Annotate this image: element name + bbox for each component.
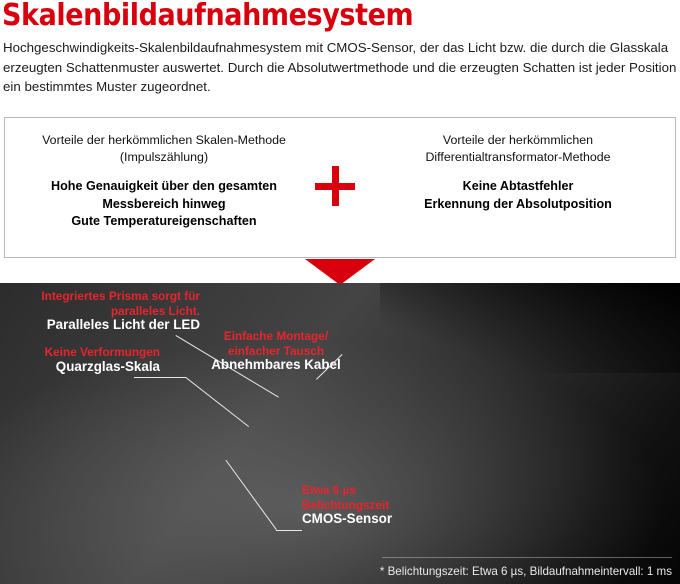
footnote-text: * Belichtungszeit: Etwa 6 µs, Bildaufnah…	[380, 565, 672, 578]
advantages-left-title: Vorteile der herkömmlichen Skalen-Method…	[42, 132, 286, 166]
advantages-column-scale: Vorteile der herkömmlichen Skalen-Method…	[19, 118, 309, 257]
leader-line-cmos-sensor-d	[225, 460, 276, 530]
callout-cmos-sensor-red-1: Etwa 6 µs	[302, 483, 442, 498]
callout-quartz-scale: Keine Verformungen Quarzglas-Skala	[4, 345, 160, 374]
advantages-left-title-line1: Vorteile der herkömmlichen Skalen-Method…	[42, 132, 286, 149]
callout-parallel-light-white-1: Paralleles Licht der LED	[4, 318, 200, 333]
footnote-rule	[382, 557, 672, 558]
advantages-left-point-2: Messbereich hinweg	[51, 196, 277, 214]
advantages-left-point-3: Gute Temperatureigenschaften	[51, 213, 277, 231]
advantages-right-point-1: Keine Abtastfehler	[424, 178, 612, 196]
down-arrow-icon	[305, 259, 375, 285]
callout-quartz-scale-red-1: Keine Verformungen	[4, 345, 160, 360]
advantages-left-points: Hohe Genauigkeit über den gesamten Messb…	[51, 178, 277, 231]
plus-icon	[315, 166, 355, 206]
leader-line-quartz-scale-d	[185, 377, 249, 427]
product-photo-panel: GT2 GT2-H12K Integriertes Prisma sorgt f…	[0, 283, 680, 584]
callout-detachable-cable-white-1: Abnehmbares Kabel	[186, 358, 366, 373]
callout-cmos-sensor-white-1: CMOS-Sensor	[302, 512, 442, 527]
advantages-left-title-line2: (Impulszählung)	[42, 149, 286, 166]
page-root: Skalenbildaufnahmesystem Hochgeschwindig…	[0, 0, 680, 584]
callout-parallel-light-red-1: Integriertes Prisma sorgt für	[4, 289, 200, 304]
advantages-column-differential: Vorteile der herkömmlichen Differentialt…	[373, 118, 663, 257]
advantages-right-points: Keine Abtastfehler Erkennung der Absolut…	[424, 178, 612, 213]
leader-line-cmos-sensor-h	[276, 530, 302, 531]
callout-cmos-sensor: Etwa 6 µs Belichtungszeit CMOS-Sensor	[302, 483, 442, 527]
intro-paragraph: Hochgeschwindigkeits-Skalenbildaufnahmes…	[3, 38, 679, 97]
callout-detachable-cable: Einfache Montage/ einfacher Tausch Abneh…	[186, 329, 366, 373]
leader-line-quartz-scale-h	[134, 377, 186, 378]
callout-detachable-cable-red-1: Einfache Montage/	[186, 329, 366, 344]
advantages-right-title: Vorteile der herkömmlichen Differentialt…	[425, 132, 610, 166]
advantages-left-point-1: Hohe Genauigkeit über den gesamten	[51, 178, 277, 196]
advantages-right-point-2: Erkennung der Absolutposition	[424, 196, 612, 214]
advantages-right-title-line1: Vorteile der herkömmlichen	[425, 132, 610, 149]
callout-quartz-scale-white-1: Quarzglas-Skala	[4, 360, 160, 375]
callout-parallel-light-red-2: paralleles Licht.	[4, 304, 200, 319]
callout-parallel-light: Integriertes Prisma sorgt für paralleles…	[4, 289, 200, 333]
callout-cmos-sensor-red-2: Belichtungszeit	[302, 498, 442, 513]
page-title: Skalenbildaufnahmesystem	[2, 0, 413, 33]
advantages-right-title-line2: Differentialtransformator-Methode	[425, 149, 610, 166]
